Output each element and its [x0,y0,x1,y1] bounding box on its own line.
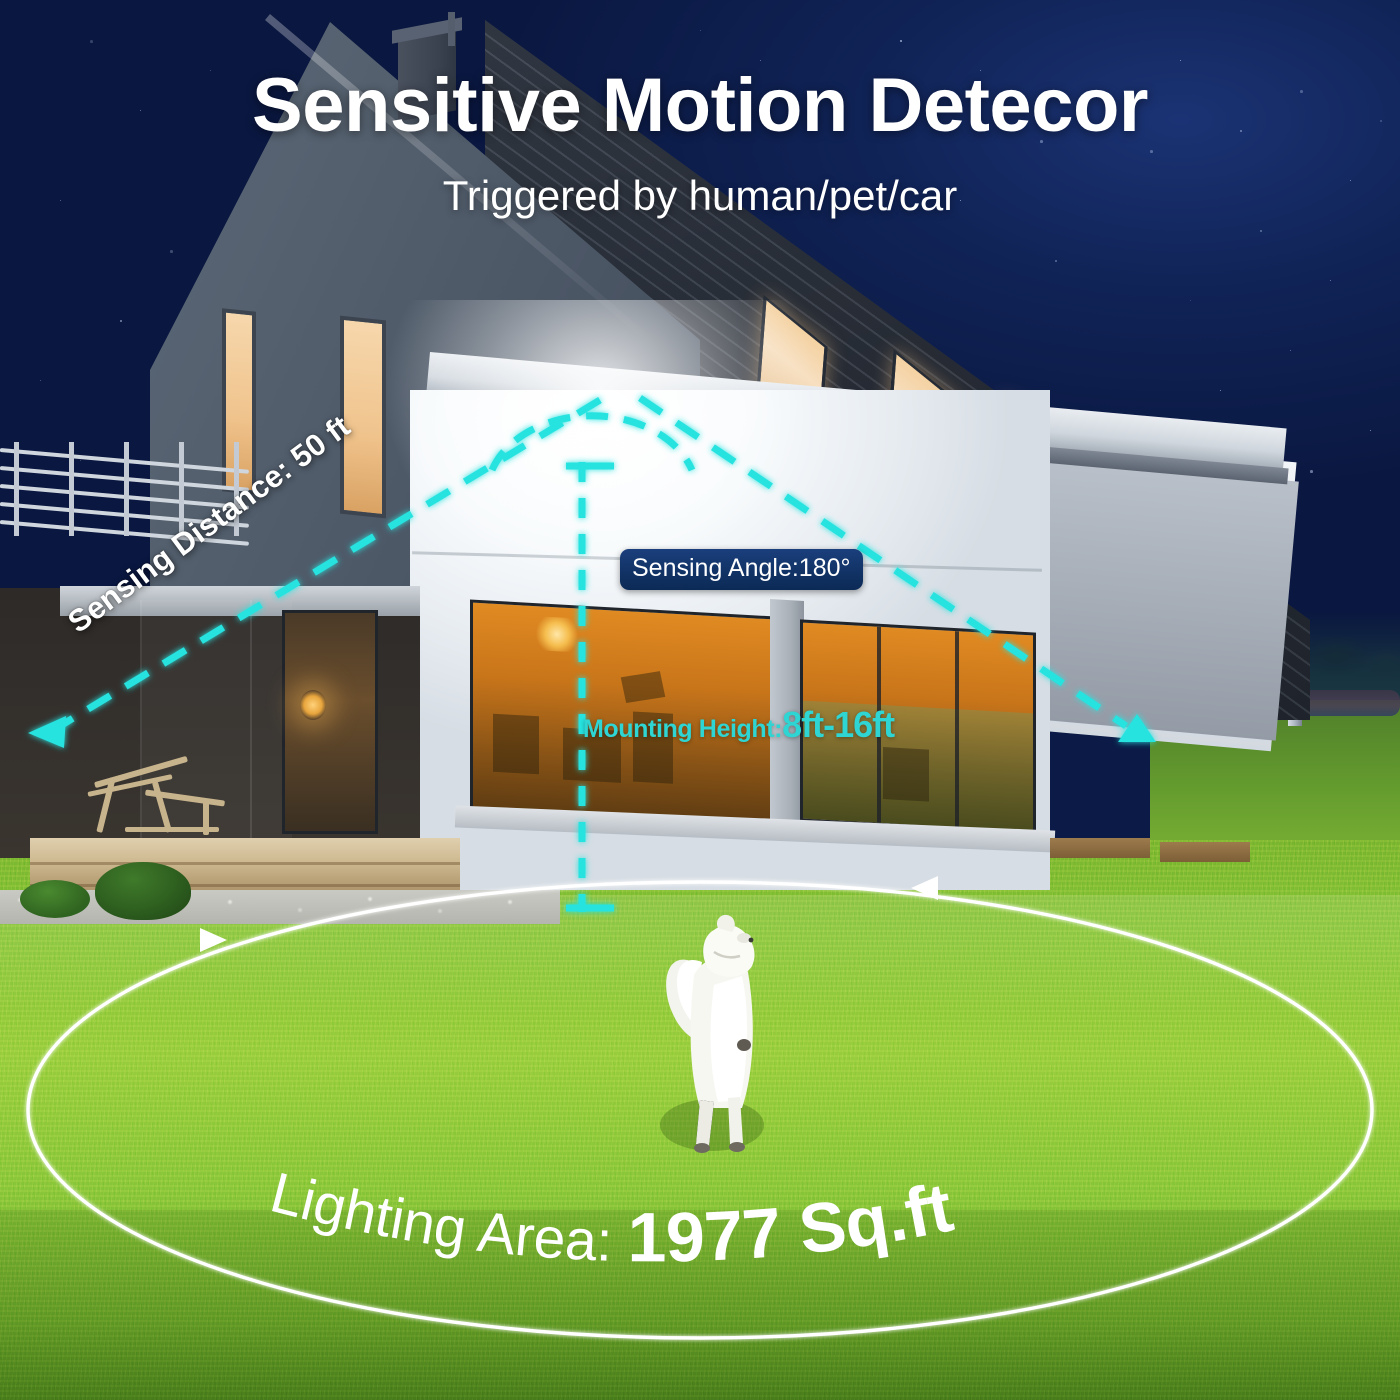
lighting-area-label: Lighting Area: 1977 Sq.ft [0,0,1400,1400]
svg-text:Lighting Area: 1977 Sq.ft: Lighting Area: 1977 Sq.ft [264,1160,959,1276]
product-infographic: Sensitive Motion Detecor Triggered by hu… [0,0,1400,1400]
